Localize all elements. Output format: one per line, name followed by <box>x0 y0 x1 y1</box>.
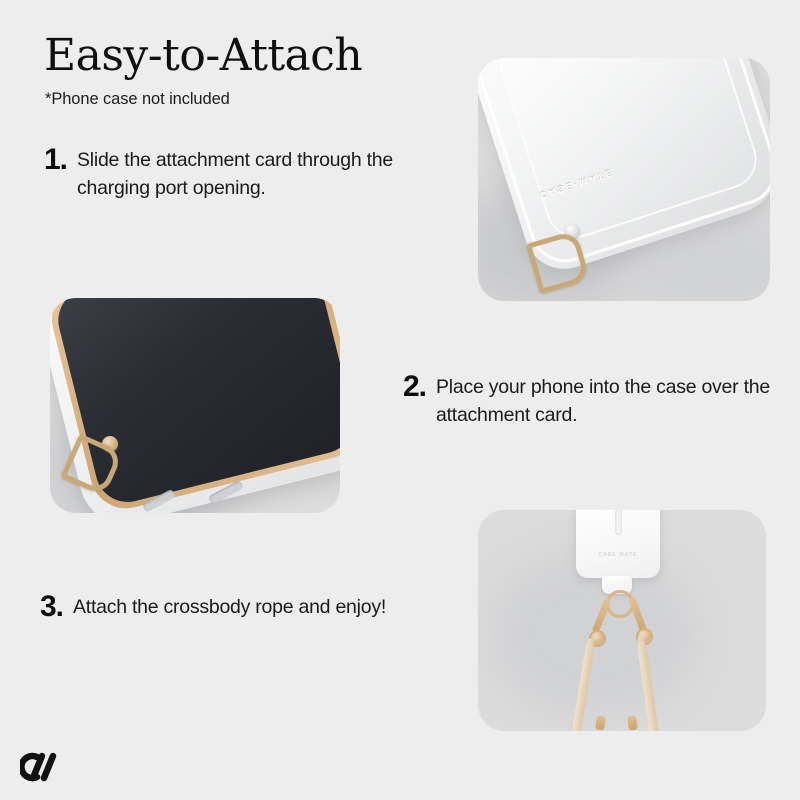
clear-case-with-d-ring-photo: CASE·MATE <box>478 58 770 301</box>
page-title: Easy-to-Attach <box>44 34 362 78</box>
step-2-number: 2. <box>403 370 426 403</box>
card-brand-text: CASE·MATE <box>576 552 660 558</box>
step-1-number: 1. <box>44 143 67 176</box>
case-mate-logo <box>20 750 82 784</box>
step-2-text: Place your phone into the case over the … <box>436 370 793 429</box>
disclaimer-note: *Phone case not included <box>45 90 230 109</box>
phone-in-case-photo <box>50 298 340 513</box>
step-1-text: Slide the attachment card through the ch… <box>77 143 464 202</box>
photo-content <box>50 298 340 513</box>
step-3: 3. Attach the crossbody rope and enjoy! <box>40 590 410 623</box>
crossbody-rope-photo: CASE·MATE <box>478 510 766 731</box>
attachment-card: CASE·MATE <box>576 510 660 578</box>
card-slot <box>615 510 622 535</box>
infographic-page: Easy-to-Attach *Phone case not included … <box>0 0 800 800</box>
photo-content: CASE·MATE <box>478 58 770 301</box>
photo-content: CASE·MATE <box>478 510 766 731</box>
step-3-text: Attach the crossbody rope and enjoy! <box>73 590 386 622</box>
rope-tip-left <box>595 715 606 730</box>
step-1: 1. Slide the attachment card through the… <box>44 143 464 202</box>
step-3-number: 3. <box>40 590 63 623</box>
step-2: 2. Place your phone into the case over t… <box>403 370 793 429</box>
rope-tip-right <box>627 715 638 730</box>
